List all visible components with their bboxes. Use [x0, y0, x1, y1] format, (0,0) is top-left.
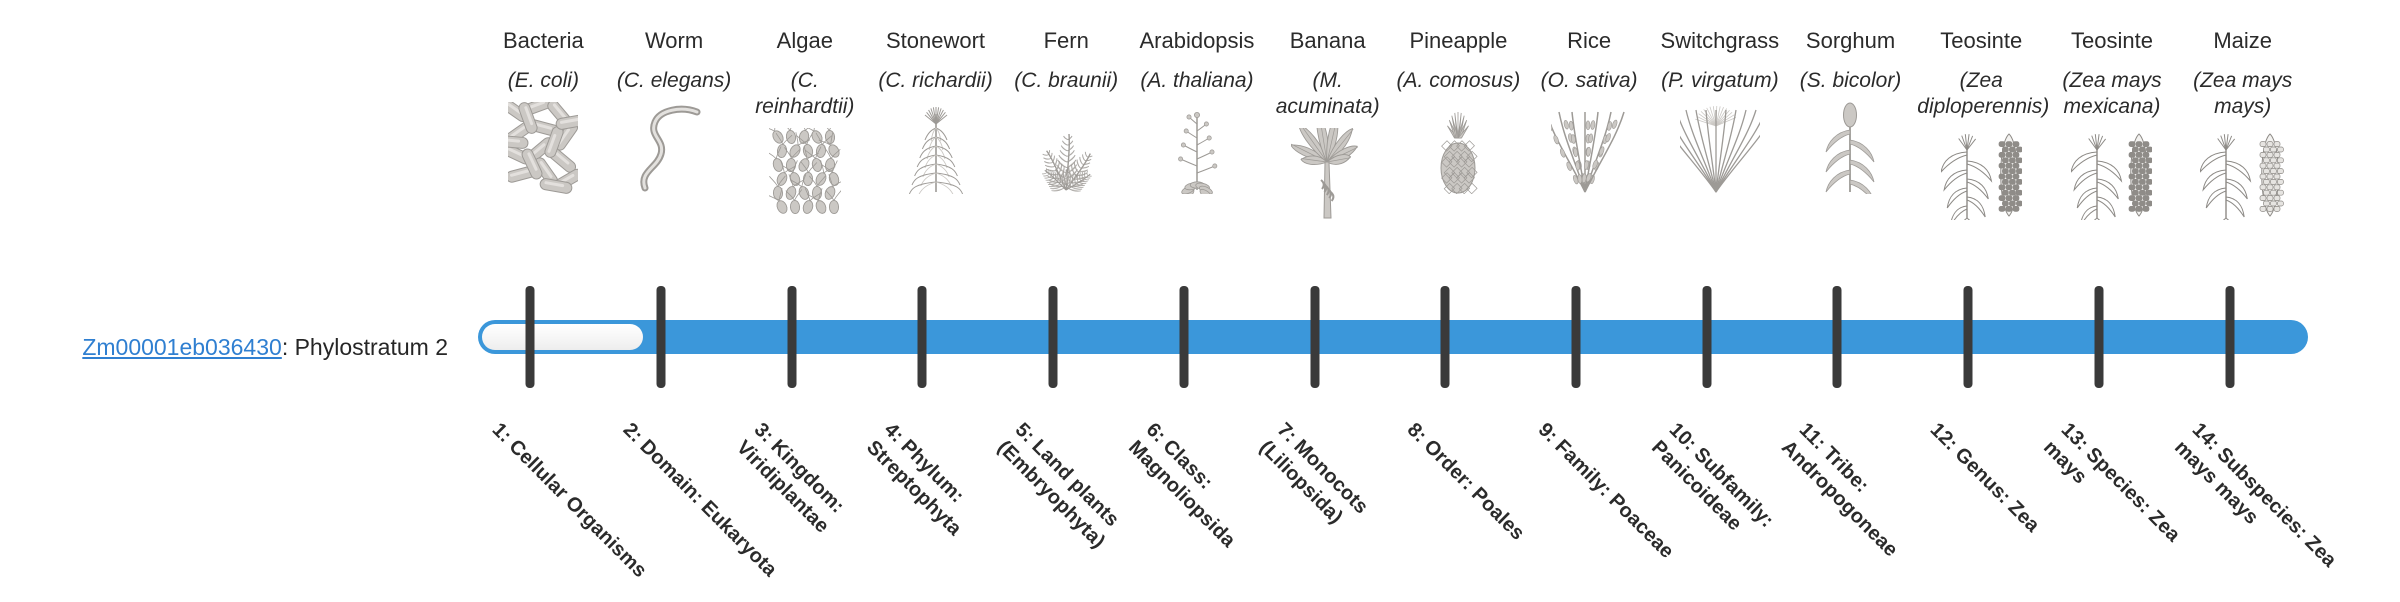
gene-id-link[interactable]: Zm00001eb036430: [82, 334, 282, 360]
species-scientific-name: (E. coli): [508, 68, 579, 94]
gene-label: Zm00001eb036430: Phylostratum 2: [0, 333, 460, 361]
species-common-name: Stonewort: [886, 28, 985, 54]
species-scientific-name: (P. virgatum): [1661, 68, 1778, 94]
species-scientific-name: (C. braunii): [1014, 68, 1118, 94]
species-common-name: Maize: [2213, 28, 2272, 54]
stratum-text: Cellular Organisms: [505, 435, 652, 582]
species-column: Pineapple(A. comosus): [1393, 28, 1524, 194]
phylostratum-track[interactable]: [478, 314, 2308, 360]
species-common-name: Arabidopsis: [1139, 28, 1254, 54]
species-scientific-name: (C. elegans): [617, 68, 731, 94]
species-scientific-name: (Zea mays mexicana): [2048, 68, 2176, 120]
sorghum-illustration: [1785, 102, 1916, 194]
species-common-name: Sorghum: [1806, 28, 1895, 54]
species-scientific-name: (Zea mays mays): [2179, 68, 2307, 120]
species-scientific-name: (Zea diploperennis): [1917, 68, 2045, 120]
species-column: Teosinte(Zea diploperennis): [1916, 28, 2047, 220]
stratum-text: Monocots (Liliopsida): [1255, 435, 1372, 528]
species-column: Sorghum(S. bicolor): [1785, 28, 1916, 194]
bacteria-illustration: [478, 102, 609, 194]
stratum-text: Kingdom: Viridiplantae: [732, 435, 849, 537]
species-common-name: Algae: [777, 28, 833, 54]
species-common-name: Teosinte: [1940, 28, 2022, 54]
track-bar-fill: [478, 320, 2308, 354]
teosinte-illustration: [1916, 128, 2047, 220]
species-column: Bacteria(E. coli): [478, 28, 609, 194]
stratum-tick: [2225, 286, 2234, 388]
stratum-text: Genus: Zea: [1951, 443, 2044, 536]
species-column: Switchgrass(P. virgatum): [1654, 28, 1785, 194]
rice-illustration: [1524, 102, 1655, 194]
species-column: Fern(C. braunii): [1001, 28, 1132, 194]
species-column: Rice(O. sativa): [1524, 28, 1655, 194]
species-common-name: Rice: [1567, 28, 1611, 54]
stratum-tick: [1049, 286, 1058, 388]
species-strip: Bacteria(E. coli): [478, 28, 2308, 300]
switchgrass-illustration: [1654, 102, 1785, 194]
species-column: Stonewort(C. richardii): [870, 28, 1001, 194]
species-scientific-name: (M. acuminata): [1264, 68, 1392, 120]
stratum-tick: [1572, 286, 1581, 388]
species-scientific-name: (A. comosus): [1397, 68, 1521, 94]
stratum-number: 12:: [1926, 419, 1962, 455]
species-common-name: Pineapple: [1409, 28, 1507, 54]
stratum-tick: [1702, 286, 1711, 388]
algae-illustration: [739, 128, 870, 220]
species-common-name: Bacteria: [503, 28, 584, 54]
species-column: Banana(M. acuminata): [1262, 28, 1393, 220]
maize-illustration: [2177, 128, 2308, 220]
species-scientific-name: (A. thaliana): [1140, 68, 1253, 94]
stratum-tick: [1833, 286, 1842, 388]
species-scientific-name: (S. bicolor): [1800, 68, 1902, 94]
stratum-tick: [1964, 286, 1973, 388]
stonewort-illustration: [870, 102, 1001, 194]
species-column: Maize(Zea mays mays): [2177, 28, 2308, 220]
species-common-name: Switchgrass: [1661, 28, 1780, 54]
stratum-text: Phylum: Streptophyta: [862, 435, 968, 540]
stratum-tick: [1310, 286, 1319, 388]
worm-illustration: [609, 102, 740, 194]
stratum-tick: [1179, 286, 1188, 388]
pineapple-illustration: [1393, 102, 1524, 194]
stratum-tick: [1441, 286, 1450, 388]
species-scientific-name: (C. richardii): [878, 68, 992, 94]
stratum-text: Order: Poales: [1420, 435, 1529, 544]
phylostratum-value: : Phylostratum 2: [282, 334, 448, 360]
species-column: Algae(C. reinhardtii): [739, 28, 870, 220]
stratum-tick: [657, 286, 666, 388]
species-column: Arabidopsis(A. thaliana): [1132, 28, 1263, 194]
species-common-name: Worm: [645, 28, 703, 54]
stratum-text: Subfamily: Panicoideae: [1647, 436, 1778, 535]
track-bar-unfilled: [482, 324, 643, 350]
banana-illustration: [1262, 128, 1393, 220]
stratum-labels: 1: Cellular Organisms2: Domain: Eukaryot…: [478, 418, 2308, 580]
species-common-name: Teosinte: [2071, 28, 2153, 54]
species-scientific-name: (C. reinhardtii): [741, 68, 869, 120]
teosinte-illustration: [2047, 128, 2178, 220]
phylostratum-visualization: Zm00001eb036430: Phylostratum 2 Bacteria…: [0, 0, 2400, 580]
stratum-tick: [787, 286, 796, 388]
stratum-text: Species: Zea mays: [2039, 436, 2184, 546]
species-column: Teosinte(Zea mays mexicana): [2047, 28, 2178, 220]
species-scientific-name: (O. sativa): [1541, 68, 1638, 94]
stratum-tick: [526, 286, 535, 388]
stratum-tick: [2094, 286, 2103, 388]
arabidopsis-illustration: [1132, 102, 1263, 194]
species-common-name: Fern: [1044, 28, 1089, 54]
stratum-tick: [918, 286, 927, 388]
species-common-name: Banana: [1290, 28, 1366, 54]
species-column: Worm(C. elegans): [609, 28, 740, 194]
fern-illustration: [1001, 102, 1132, 194]
